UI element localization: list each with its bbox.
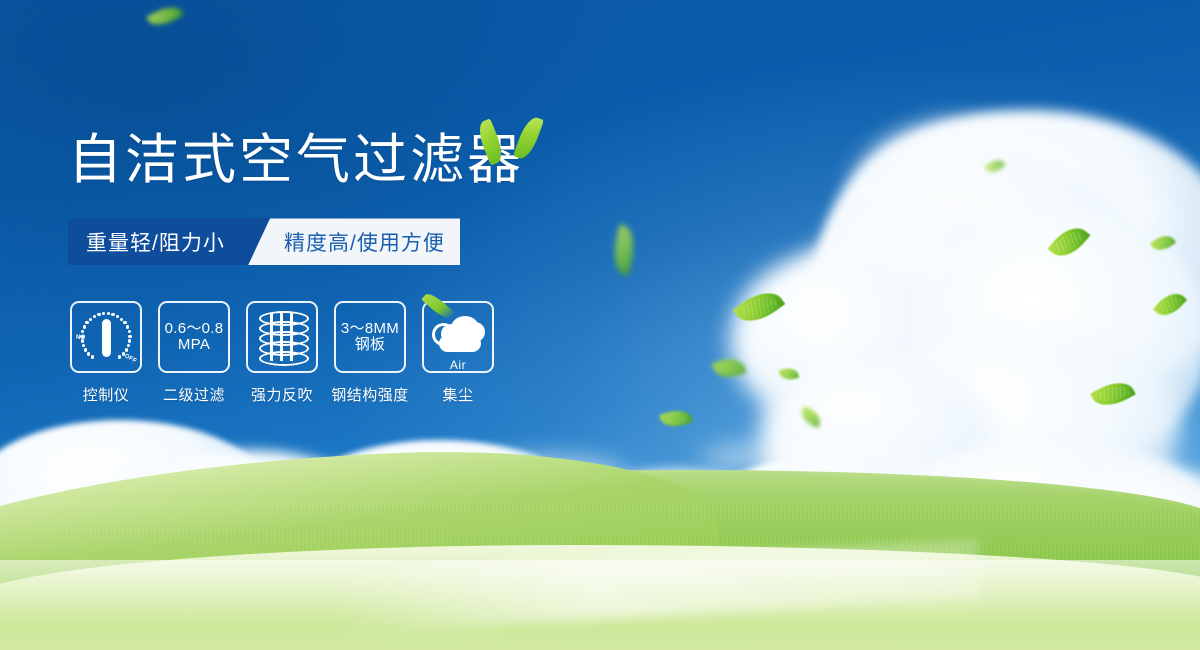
gauge-dot [87, 352, 90, 355]
sprout-leaf-right-icon [513, 114, 544, 161]
gauge-dot [127, 344, 130, 347]
feature-text-block: 3～8MM 钢板 [341, 321, 399, 355]
subtitle-bar: 重量轻/阻力小 精度高/使用方便 [68, 218, 460, 265]
feature-item-controller[interactable]: NO OFF 控制仪 [68, 301, 144, 405]
feature-text-block: 0.6～0.8 MPA [165, 321, 224, 355]
feature-item-secondary-filter[interactable]: 0.6～0.8 MPA 二级过滤 [156, 301, 232, 405]
gauge-dot [128, 339, 131, 342]
feature-icon-box: NO OFF [70, 301, 142, 373]
gauge-dot [97, 313, 100, 316]
gauge-dot [118, 355, 121, 358]
blowback-ring [259, 351, 309, 366]
gauge-dot [116, 315, 119, 318]
feature-icon-box [246, 301, 318, 373]
feature-list: NO OFF 控制仪 0.6～0.8 MPA 二级过滤 [68, 301, 708, 405]
gauge-icon: NO OFF [77, 308, 135, 366]
gauge-dot [102, 312, 105, 315]
gauge-dot [89, 318, 92, 321]
feature-caption: 钢结构强度 [331, 384, 409, 405]
subtitle-left-text: 重量轻/阻力小 [68, 218, 264, 265]
feature-caption: 集尘 [442, 384, 473, 405]
feature-caption: 二级过滤 [163, 384, 225, 405]
gauge-dot [111, 313, 114, 316]
leaf-beam-icon [421, 291, 455, 322]
feature-item-steel-strength[interactable]: 3～8MM 钢板 钢结构强度 [332, 301, 408, 405]
product-banner: 自洁式空气过滤器 重量轻/阻力小 精度高/使用方便 NO OFF 控制仪 [0, 0, 1200, 650]
gauge-dot [107, 312, 110, 315]
gauge-dot [128, 335, 131, 338]
gauge-label-on: NO [76, 335, 86, 341]
gauge-dot [93, 315, 96, 318]
gauge-dot [125, 348, 128, 351]
banner-content: 自洁式空气过滤器 重量轻/阻力小 精度高/使用方便 NO OFF 控制仪 [68, 130, 708, 405]
feature-item-dust-collection[interactable]: Air 集尘 [420, 301, 496, 405]
feature-caption: 控制仪 [83, 384, 130, 405]
feature-item-blowback[interactable]: 强力反吹 [244, 301, 320, 405]
gauge-dot [91, 355, 94, 358]
gauge-dot [85, 321, 88, 324]
feature-text-line1: 0.6～0.8 [165, 321, 224, 338]
gauge-dot [82, 344, 85, 347]
blowback-icon [258, 311, 306, 363]
gauge-dot [123, 321, 126, 324]
feature-caption: 强力反吹 [251, 384, 313, 405]
feature-icon-box: 0.6～0.8 MPA [158, 301, 230, 373]
feature-text-line1: 3～8MM [341, 321, 399, 338]
title-sprout-leaves-icon [476, 112, 556, 164]
feature-icon-box: Air [422, 301, 494, 373]
cloud-air-icon: Air [431, 314, 485, 360]
gauge-needle-icon [102, 319, 111, 357]
feature-text-line2: 钢板 [341, 337, 399, 354]
sprout-leaf-left-icon [474, 118, 506, 165]
gauge-dot [83, 325, 86, 328]
feature-text-line2: MPA [165, 337, 224, 354]
gauge-dot [128, 330, 131, 333]
subtitle-right-text: 精度高/使用方便 [248, 218, 460, 265]
page-title: 自洁式空气过滤器 [68, 130, 708, 190]
gauge-dot [126, 325, 129, 328]
gauge-dot [81, 330, 84, 333]
cloud-air-label: Air [431, 358, 485, 372]
feature-icon-box: 3～8MM 钢板 [334, 301, 406, 373]
grass-foreground [0, 545, 1200, 650]
